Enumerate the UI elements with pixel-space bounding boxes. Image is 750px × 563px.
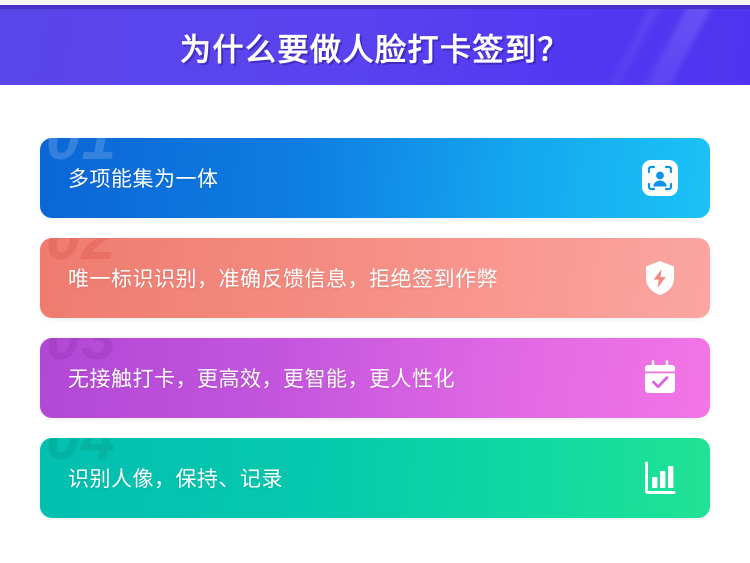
- bottom-whitespace: [0, 520, 750, 563]
- shield-bolt-icon: [640, 258, 680, 298]
- card-text: 无接触打卡，更高效，更智能，更人性化: [68, 363, 455, 393]
- feature-card-4[interactable]: 04 识别人像，保持、记录: [40, 438, 710, 518]
- feature-card-list: 01 多项能集为一体 02 唯一标识识别，准确反馈信息，拒绝签到作弊 03: [40, 138, 710, 518]
- card-text: 识别人像，保持、记录: [68, 463, 283, 493]
- page-title: 为什么要做人脸打卡签到？: [0, 25, 750, 70]
- card-text: 唯一标识识别，准确反馈信息，拒绝签到作弊: [68, 263, 498, 293]
- feature-card-2[interactable]: 02 唯一标识识别，准确反馈信息，拒绝签到作弊: [40, 238, 710, 318]
- feature-card-1[interactable]: 01 多项能集为一体: [40, 138, 710, 218]
- card-text: 多项能集为一体: [68, 163, 219, 193]
- feature-card-3[interactable]: 03 无接触打卡，更高效，更智能，更人性化: [40, 338, 710, 418]
- face-scan-icon: [640, 158, 680, 198]
- calendar-check-icon: [640, 358, 680, 398]
- bar-chart-icon: [640, 458, 680, 498]
- header-banner: 为什么要做人脸打卡签到？: [0, 9, 750, 85]
